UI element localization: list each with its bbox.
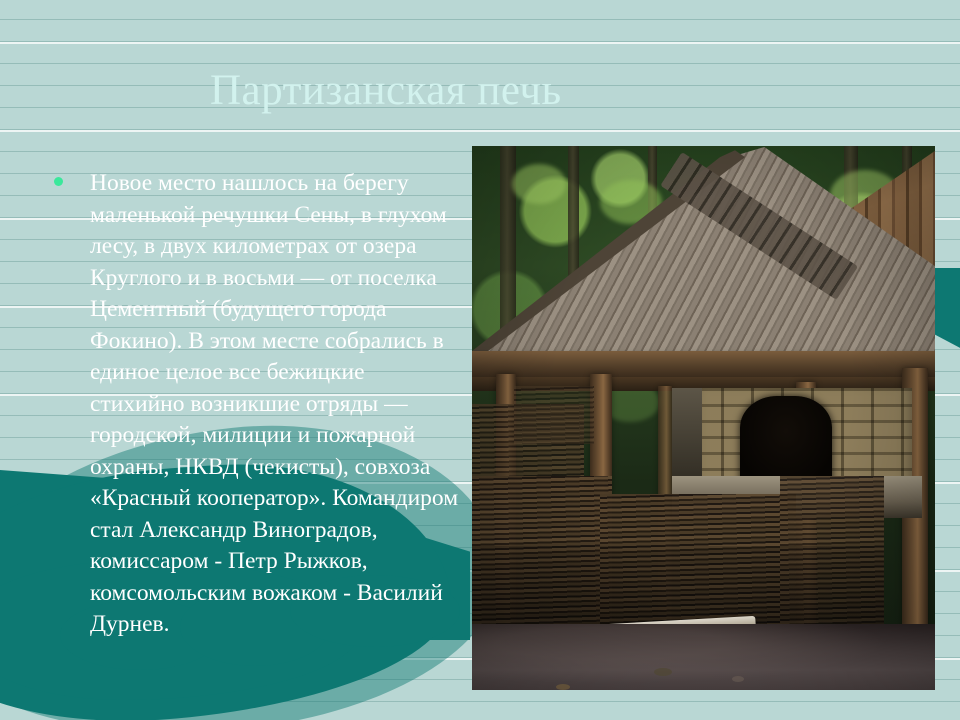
slide-title: Партизанская печь [210,68,910,113]
presentation-slide: Партизанская печь Новое место нашлось на… [0,0,960,720]
body-paragraph: Новое место нашлось на берегу маленькой … [90,168,464,641]
bullet-dot-icon [54,177,63,186]
photo-oven-left-shadow [672,388,702,488]
body-bullet-item: Новое место нашлось на берегу маленькой … [54,168,464,641]
slide-photo [472,146,935,690]
photo-oven-mouth [740,396,832,484]
photo-wattle-fence [514,386,594,444]
photo-main-beam [472,351,935,377]
photo-ground [472,624,935,690]
photo-ground-detail [732,676,744,682]
photo-ground-detail [654,668,672,676]
photo-foliage [512,164,566,204]
photo-ground-detail [556,684,570,690]
